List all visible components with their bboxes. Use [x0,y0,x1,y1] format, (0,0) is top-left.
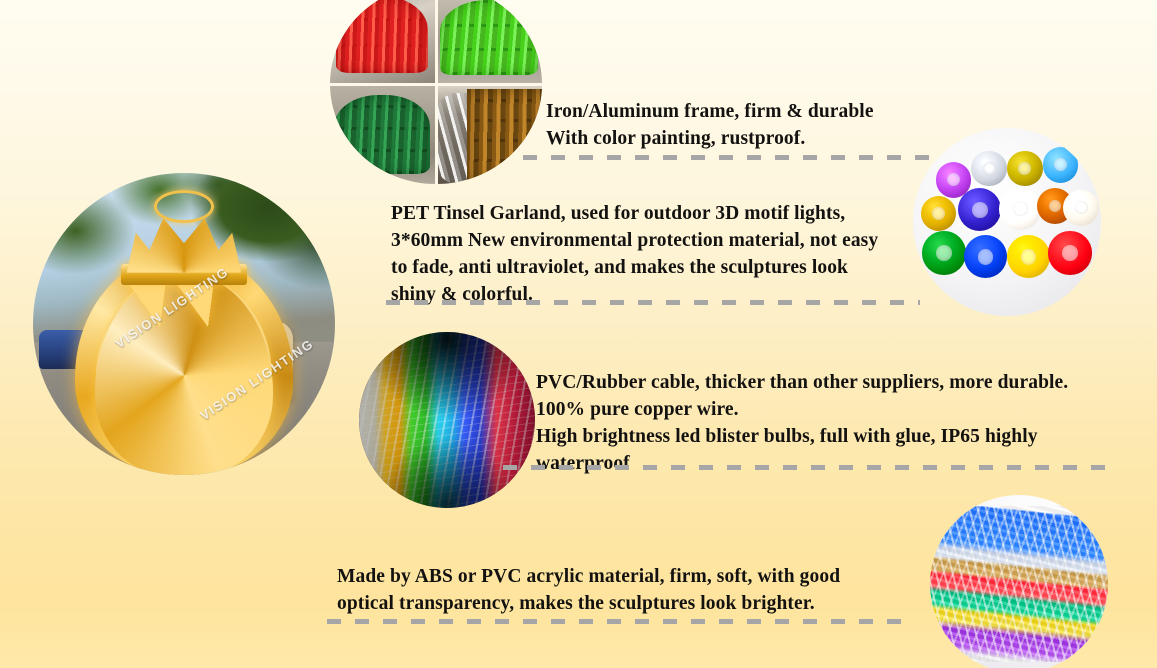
frame-photo-green-dark [330,86,435,185]
feature-cable-line-1: PVC/Rubber cable, thicker than other sup… [536,369,1068,396]
tinsel-roll-green [922,231,965,274]
divider-frame [523,155,937,160]
tinsel-roll-silver [971,151,1007,187]
tinsel-roll-red [1048,231,1091,274]
acrylic-mesh-photo [930,495,1108,668]
acrylic-color-layers [930,506,1108,663]
feature-text-tinsel: PET Tinsel Garland, used for outdoor 3D … [391,200,878,308]
tinsel-roll-gold [921,196,957,232]
product-feature-infographic: Iron/Aluminum frame, firm & durable With… [0,0,1157,668]
led-string-lights-photo [359,332,535,508]
feature-frame-line-2: With color painting, rustproof. [546,125,874,152]
arch-motif-light-photo: VISION LIGHTING VISION LIGHTING [33,173,335,475]
feature-tinsel-line-3: to fade, anti ultraviolet, and makes the… [391,254,878,281]
feature-tinsel-line-2: 3*60mm New environmental protection mate… [391,227,878,254]
feature-cable-line-4: waterproof [536,450,1068,477]
tinsel-garland-photo [913,128,1101,316]
frame-photo-green-light [438,0,543,83]
feature-cable-line-2: 100% pure copper wire. [536,396,1068,423]
divider-tinsel [386,300,920,305]
tinsel-roll-blue [964,235,1007,278]
arch-chevron-decor [124,279,245,327]
tinsel-roll-cream-white [1063,190,1099,226]
feature-acrylic-line-1: Made by ABS or PVC acrylic material, fir… [337,563,840,590]
feature-frame-line-1: Iron/Aluminum frame, firm & durable [546,98,874,125]
feature-cable-line-3: High brightness led blister bulbs, full … [536,423,1068,450]
frame-photo-red [330,0,435,83]
frame-photo-tubes [438,86,543,185]
divider-acrylic [327,619,915,624]
divider-cable [503,465,1116,470]
led-color-bands [359,332,535,508]
tinsel-roll-white [999,188,1040,229]
tinsel-roll-light-blue [1043,147,1079,183]
arch-halo-ring [154,190,214,223]
tinsel-roll-olive-gold [1007,151,1043,187]
feature-text-frame: Iron/Aluminum frame, firm & durable With… [546,98,874,152]
feature-text-acrylic: Made by ABS or PVC acrylic material, fir… [337,563,840,617]
feature-text-cable: PVC/Rubber cable, thicker than other sup… [536,369,1068,477]
feature-acrylic-line-2: optical transparency, makes the sculptur… [337,590,840,617]
feature-tinsel-line-1: PET Tinsel Garland, used for outdoor 3D … [391,200,878,227]
tinsel-roll-yellow [1007,235,1050,278]
tinsel-roll-indigo [958,188,1001,231]
frame-grid-photo [330,0,542,184]
